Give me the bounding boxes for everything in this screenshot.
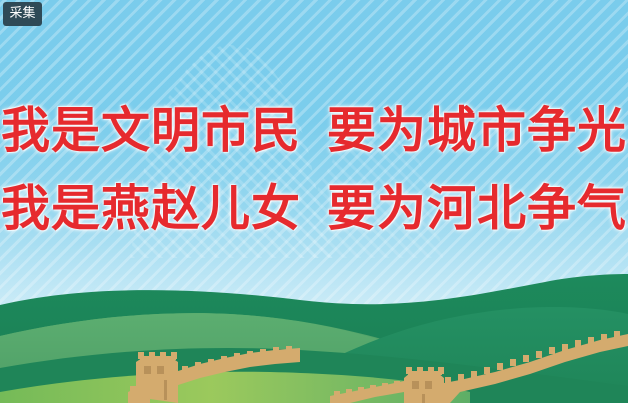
capture-button[interactable]: 采集 — [3, 2, 42, 26]
poster-canvas: 我是文明市民要为城市争光 我是燕赵儿女要为河北争气 采集 — [0, 0, 628, 403]
sky-background — [0, 0, 628, 403]
